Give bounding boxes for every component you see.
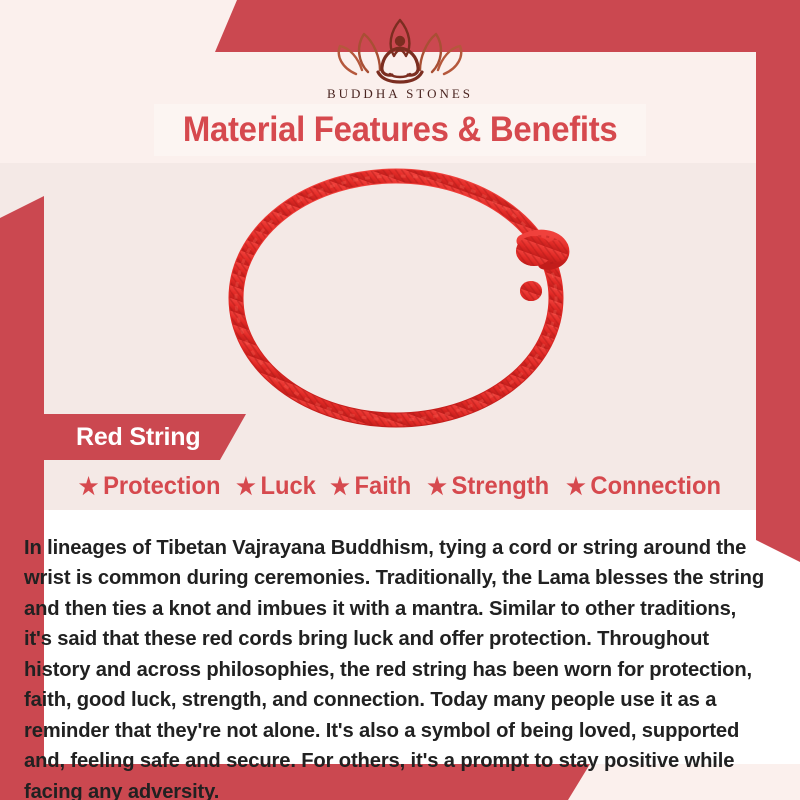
benefit-label: Connection xyxy=(590,472,721,501)
star-icon: ★ xyxy=(236,475,256,498)
brand-name: BUDDHA STONES xyxy=(0,86,800,102)
benefit-label: Faith xyxy=(355,472,412,501)
star-icon: ★ xyxy=(330,475,350,498)
star-icon: ★ xyxy=(566,475,586,498)
star-icon: ★ xyxy=(427,475,447,498)
description-text: In lineages of Tibetan Vajrayana Buddhis… xyxy=(24,533,765,800)
benefit-label: Luck xyxy=(261,472,316,501)
infographic-card: BUDDHA STONES Material Features & Benefi… xyxy=(0,0,800,800)
benefit-item: ★ Protection xyxy=(79,472,221,501)
benefit-item: ★ Luck xyxy=(236,472,316,501)
product-label: Red String xyxy=(76,423,200,452)
product-label-ribbon: Red String xyxy=(24,414,246,460)
benefit-label: Protection xyxy=(103,472,220,501)
title-banner: Material Features & Benefits xyxy=(154,104,646,156)
star-icon: ★ xyxy=(79,475,99,498)
benefit-item: ★ Connection xyxy=(566,472,721,501)
benefits-row: ★ Protection ★ Luck ★ Faith ★ Strength ★… xyxy=(44,468,756,504)
page-title: Material Features & Benefits xyxy=(183,110,618,150)
brand-logo: BUDDHA STONES xyxy=(0,12,800,102)
benefit-item: ★ Strength xyxy=(427,472,549,501)
lotus-meditation-figure-icon xyxy=(324,12,476,84)
benefit-label: Strength xyxy=(451,472,549,501)
benefit-item: ★ Faith xyxy=(330,472,411,501)
